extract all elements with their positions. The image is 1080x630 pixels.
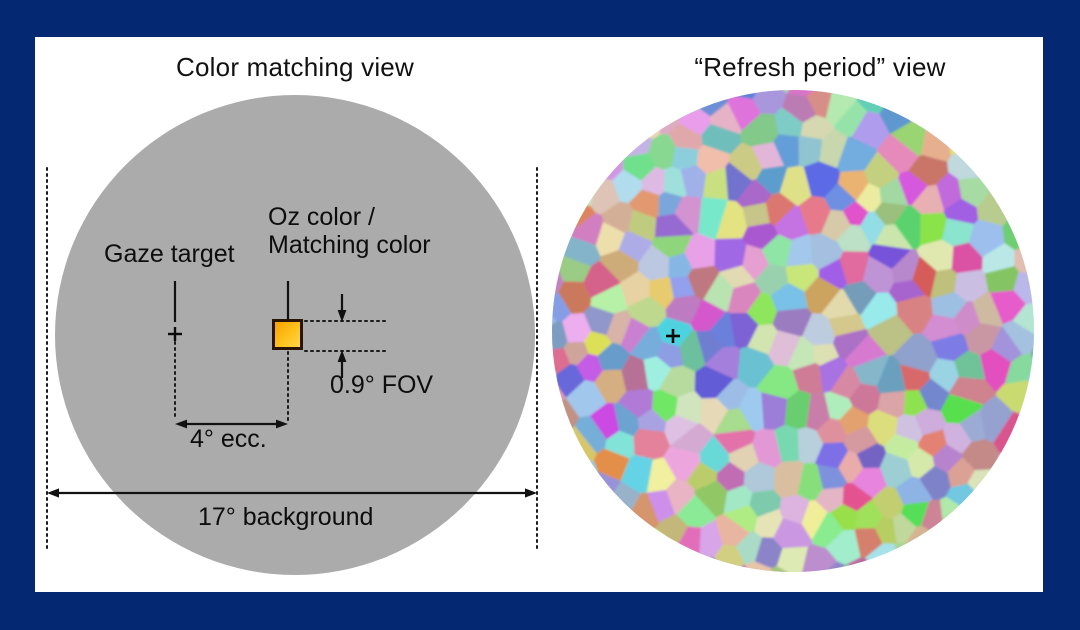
label-oz-color: Oz color / Matching color [268, 203, 431, 259]
matching-color-square [272, 319, 303, 350]
background-disc-mosaic [552, 90, 1034, 572]
label-background-extent: 17° background [198, 503, 373, 531]
label-gaze-target: Gaze target [104, 240, 235, 268]
label-eccentricity: 4° ecc. [190, 425, 267, 453]
figure-root: Color matching view “Refresh period” vie… [0, 0, 1080, 630]
panel-title-color-matching: Color matching view [60, 52, 530, 83]
voronoi-mosaic-svg [552, 90, 1034, 572]
panel-title-refresh-period: “Refresh period” view [600, 52, 1040, 83]
label-oz-color-line1: Oz color / [268, 203, 431, 231]
label-oz-color-line2: Matching color [268, 231, 431, 259]
label-fov: 0.9° FOV [330, 371, 433, 399]
